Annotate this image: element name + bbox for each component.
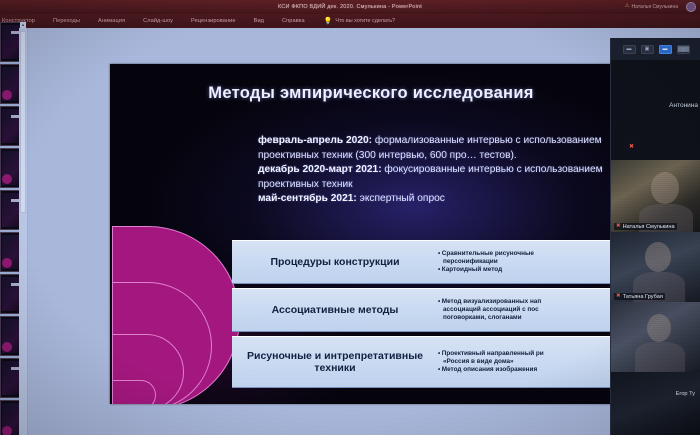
active-view-icon[interactable]: ▬ (659, 45, 672, 54)
window-title: КСИ ФКПО ВДИЙ дек. 2020. Смулькина - Pow… (278, 4, 422, 10)
user-avatar-icon[interactable] (686, 2, 696, 12)
method-title-2: Ассоциативные методы (232, 304, 438, 317)
method-title-1: Процедуры конструкции (232, 256, 438, 269)
body-line-3: май-сентябрь 2021: экспертный опрос (258, 192, 630, 207)
grid-view-icon[interactable]: ▦▦ (677, 45, 690, 54)
body-label-3: май-сентябрь 2021: (258, 193, 357, 204)
body-label-1: февраль-апрель 2020: (258, 135, 372, 146)
bullet-3-1: •Проективный направленный ри (438, 350, 630, 358)
bullet-1-1-text: Сравнительные рисуночные (442, 250, 534, 257)
slide-title: Методы эмпирического исследования (110, 84, 632, 103)
body-line-1: февраль-апрель 2020: формализованные инт… (258, 134, 630, 163)
method-bullets-1: •Сравнительные рисуночные персонификации… (438, 250, 632, 275)
zoom-meeting-panel[interactable]: ▬ ▣ ▬ ▦▦ Антонина ✖ ✖ Наталья Смулькина … (610, 38, 700, 435)
mute-icon: ✖ (629, 144, 634, 150)
ribbon-tab-animaciya[interactable]: Анимация (89, 18, 134, 24)
participant-name-1: ✖ Наталья Смулькина (614, 223, 677, 230)
slide-thumbnail-pane[interactable]: ▲ (0, 28, 28, 435)
bullet-3-2-text: Метод описания изображения (442, 366, 537, 373)
current-slide[interactable]: Методы эмпирического исследования феврал… (110, 64, 632, 404)
participant-tile-1[interactable]: ✖ Наталья Смулькина (611, 160, 700, 232)
bullet-dot-icon: • (438, 250, 440, 258)
method-bullets-2: •Метод визуализированных нап ассоциаций … (438, 298, 632, 323)
method-bullets-3: •Проективный направленный ри «Россия в в… (438, 350, 632, 375)
participant-1-label: Наталья Смулькина (623, 224, 675, 230)
method-title-3: Рисуночные и интрепретативные техники (232, 350, 438, 375)
powerpoint-window: КСИ ФКПО ВДИЙ дек. 2020. Смулькина - Pow… (0, 0, 700, 435)
bullet-3-2: •Метод описания изображения (438, 366, 630, 374)
mute-icon: ✖ (616, 224, 621, 230)
method-box-1[interactable]: Процедуры конструкции •Сравнительные рис… (232, 240, 632, 284)
account-area[interactable]: ⚠ Наталья Смулькина (625, 4, 678, 10)
lightbulb-icon: 💡 (324, 18, 333, 25)
participant-tile-4[interactable]: Егор Ту (611, 372, 700, 435)
bullet-1-2-text: Картоидный метод (442, 266, 502, 273)
method-box-3[interactable]: Рисуночные и интрепретативные техники •П… (232, 336, 632, 388)
window-titlebar: КСИ ФКПО ВДИЙ дек. 2020. Смулькина - Pow… (0, 0, 700, 14)
bullet-3-1-sub: «Россия в виде дома» (438, 358, 630, 366)
slide-body-text: февраль-апрель 2020: формализованные инт… (258, 134, 630, 207)
body-label-2: декабрь 2020-март 2021: (258, 164, 382, 175)
ribbon-tab-slide-show[interactable]: Слайд-шоу (134, 18, 182, 24)
participant-name-3: Егор Ту (674, 390, 697, 397)
bullet-2-1: •Метод визуализированных нап (438, 298, 630, 306)
bullet-dot-icon: • (438, 366, 440, 374)
bullet-2-1-sub: ассоциаций ассоциаций с пос (438, 306, 630, 314)
bullet-dot-icon: • (438, 266, 440, 274)
scrollbar-thumb[interactable] (20, 31, 26, 213)
bullet-1-1-sub: персонификации (438, 258, 630, 266)
bullet-1-1: •Сравнительные рисуночные (438, 250, 630, 258)
participant-tile-3[interactable] (611, 302, 700, 372)
ribbon-tab-spravka[interactable]: Справка (273, 18, 314, 24)
photographed-screen: КСИ ФКПО ВДИЙ дек. 2020. Смулькина - Pow… (0, 0, 700, 435)
bullet-dot-icon: • (438, 350, 440, 358)
minimize-icon[interactable]: ▬ (623, 45, 636, 54)
body-line-2: декабрь 2020-март 2021: фокусированные и… (258, 163, 630, 192)
participant-3-label: Егор Ту (676, 391, 695, 397)
slide-canvas-area: Методы эмпирического исследования феврал… (28, 28, 700, 435)
bullet-3-1-text: Проективный направленный ри (442, 350, 544, 357)
body-text-3: экспертный опрос (357, 193, 445, 204)
account-name: Наталья Смулькина (632, 4, 678, 10)
editor-workspace: ▲ Методы эмпирического исследования февр… (0, 28, 700, 435)
ribbon-tab-bar: Конструктор Переходы Анимация Слайд-шоу … (0, 14, 700, 28)
mute-icon: ✖ (616, 294, 621, 300)
ribbon-tab-vid[interactable]: Вид (245, 18, 273, 24)
tell-me-placeholder: Что вы хотите сделать? (335, 18, 395, 24)
bullet-2-2-sub: поговорками, слоганами (438, 314, 630, 322)
bullet-dot-icon: • (438, 298, 440, 306)
zoom-active-speaker-tile[interactable]: Антонина ✖ (611, 60, 700, 160)
zoom-view-toolbar: ▬ ▣ ▬ ▦▦ (611, 38, 700, 60)
bullet-2-1-text: Метод визуализированных нап (442, 298, 541, 305)
method-box-2[interactable]: Ассоциативные методы •Метод визуализиров… (232, 288, 632, 332)
speaker-view-icon[interactable]: ▣ (641, 45, 654, 54)
ribbon-tab-recenzirovanie[interactable]: Рецензирование (182, 18, 245, 24)
tell-me-search[interactable]: 💡 Что вы хотите сделать? (324, 18, 395, 25)
participant-2-label: Татьяна Грубая (623, 294, 663, 300)
participant-name-2: ✖ Татьяна Грубая (614, 293, 665, 300)
active-speaker-name: Антонина (669, 102, 698, 109)
bullet-1-2: •Картоидный метод (438, 266, 630, 274)
semicircle-core (112, 380, 156, 404)
scroll-up-arrow-icon[interactable]: ▲ (20, 22, 26, 28)
participant-tile-2[interactable]: ✖ Татьяна Грубая (611, 232, 700, 302)
warning-triangle-icon: ⚠ (625, 4, 630, 10)
thumbnail-scrollbar[interactable]: ▲ (19, 28, 27, 435)
ribbon-tab-perehody[interactable]: Переходы (44, 18, 89, 24)
